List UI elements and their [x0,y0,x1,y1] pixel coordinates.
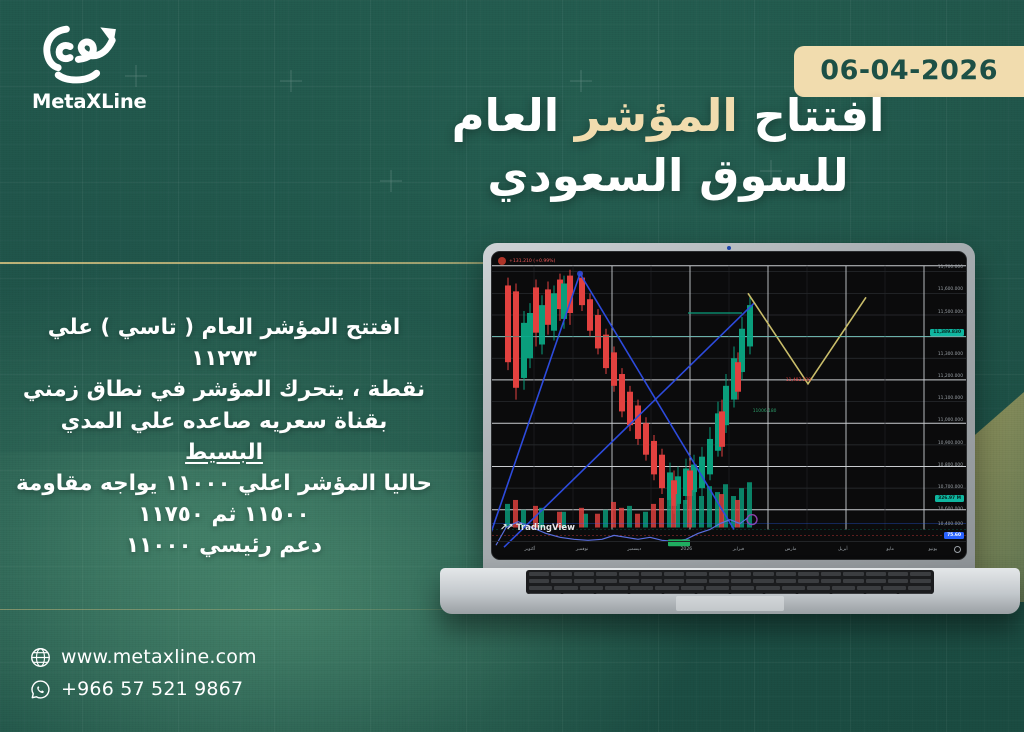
price-tick: 10,800.000 [938,463,963,468]
tradingview-logo: ↗↗ TradingView [500,523,575,533]
laptop-lid: +131.210 (+0.99%) 11,482.330 11006.180 ↗… [483,243,975,573]
current-price-badge: 11,389.830 [930,329,964,336]
rsi-badge: 75.60 [944,532,964,539]
body-line: حاليا المؤشر اعلي ١١٠٠٠ يواجه مقاومة [14,468,434,499]
price-tick: 10,400.000 [938,522,963,527]
price-tick: 10,700.000 [938,485,963,490]
title-line-2: للسوق السعودي [348,146,988,206]
title-accent-word: المؤشر [575,89,738,142]
chart-time-axis[interactable]: أكتوبر نوفمبر ديسمبر 2026 فبراير مارس أب… [492,541,966,559]
brand-logo[interactable]: MetaXLine [28,20,158,113]
contact-block: www.metaxline.com +966 57 521 9867 [30,646,257,710]
chart-annotation-resistance: 11,482.330 [786,378,811,383]
price-tick: 11,700.000 [938,265,963,270]
whatsapp-icon [30,679,51,700]
tradingview-label: TradingView [516,523,575,533]
price-tick: 11,000.000 [938,418,963,423]
price-tick: 11,300.000 [938,352,963,357]
body-line: بقناة سعريه صاعده علي المدي [14,406,434,437]
poster-canvas: MetaXLine 06-04-2026 افتتاح المؤشر العام… [0,0,1024,732]
time-tick: نوفمبر [576,547,588,552]
chart-annotation-support: 11006.180 [753,409,777,414]
volume-badge: 326.97 M [935,495,964,502]
website-text: www.metaxline.com [61,646,257,668]
laptop-keyboard [526,570,934,594]
phone-text: +966 57 521 9867 [61,678,243,700]
laptop-mockup: +131.210 (+0.99%) 11,482.330 11006.180 ↗… [440,243,1020,663]
laptop-camera-dot [727,246,731,250]
title-part-after: العام [452,89,575,142]
price-tick: 10,600.000 [938,507,963,512]
keyboard-row [526,570,934,577]
body-line-underlined: البسيط [14,437,434,468]
time-tick: مايو [886,547,894,552]
chart-svg [492,252,966,559]
time-tick: ديسمبر [627,547,641,552]
tradingview-mark-icon: ↗↗ [500,523,512,533]
price-tick: 11,600.000 [938,287,963,292]
grid-plus-marker [280,70,302,92]
body-line: نقطة ، يتحرك المؤشر في نطاق زمني [14,374,434,405]
ticker-dot-icon [498,257,506,265]
trading-chart[interactable]: +131.210 (+0.99%) 11,482.330 11006.180 ↗… [492,252,966,559]
price-tick: 11,200.000 [938,374,963,379]
body-line: دعم رئيسي ١١٠٠٠ [14,530,434,561]
globe-icon [30,647,51,668]
metaxline-arrow-circle-logo-icon [36,20,128,86]
time-tick: فبراير [733,547,744,552]
body-line: افتتح المؤشر العام ( تاسي ) علي ١١٢٧٣ [14,312,434,374]
time-tick: يونيو [928,547,937,552]
body-line: ١١٥٠٠ ثم ١١٧٥٠ [14,499,434,530]
laptop-trackpad [676,596,784,611]
body-paragraph: افتتح المؤشر العام ( تاسي ) علي ١١٢٧٣ نق… [14,312,434,561]
clock-icon[interactable] [954,546,961,553]
contact-phone-row[interactable]: +966 57 521 9867 [30,678,257,700]
page-title: افتتاح المؤشر العام للسوق السعودي [348,86,988,207]
title-line-1: افتتاح المؤشر العام [452,89,885,142]
laptop-screen: +131.210 (+0.99%) 11,482.330 11006.180 ↗… [491,251,967,560]
time-tick: 2026 [680,547,692,552]
time-tick: أبريل [838,547,848,552]
keyboard-row [526,577,934,584]
price-tick: 11,500.000 [938,310,963,315]
keyboard-row [526,584,934,591]
price-tick: 11,100.000 [938,396,963,401]
keyboard-row [526,591,934,594]
contact-website-row[interactable]: www.metaxline.com [30,646,257,668]
time-tick: مارس [785,547,797,552]
time-tick: أكتوبر [524,547,535,552]
chart-ticker-readout: +131.210 (+0.99%) [498,257,555,265]
price-tick: 10,900.000 [938,441,963,446]
ticker-change-value: +131.210 (+0.99%) [509,259,555,264]
brand-wordmark: MetaXLine [28,90,158,113]
title-part-before: افتتاح [738,89,885,142]
chart-price-axis[interactable]: 11,700.000 11,600.000 11,500.000 11,389.… [912,252,966,541]
